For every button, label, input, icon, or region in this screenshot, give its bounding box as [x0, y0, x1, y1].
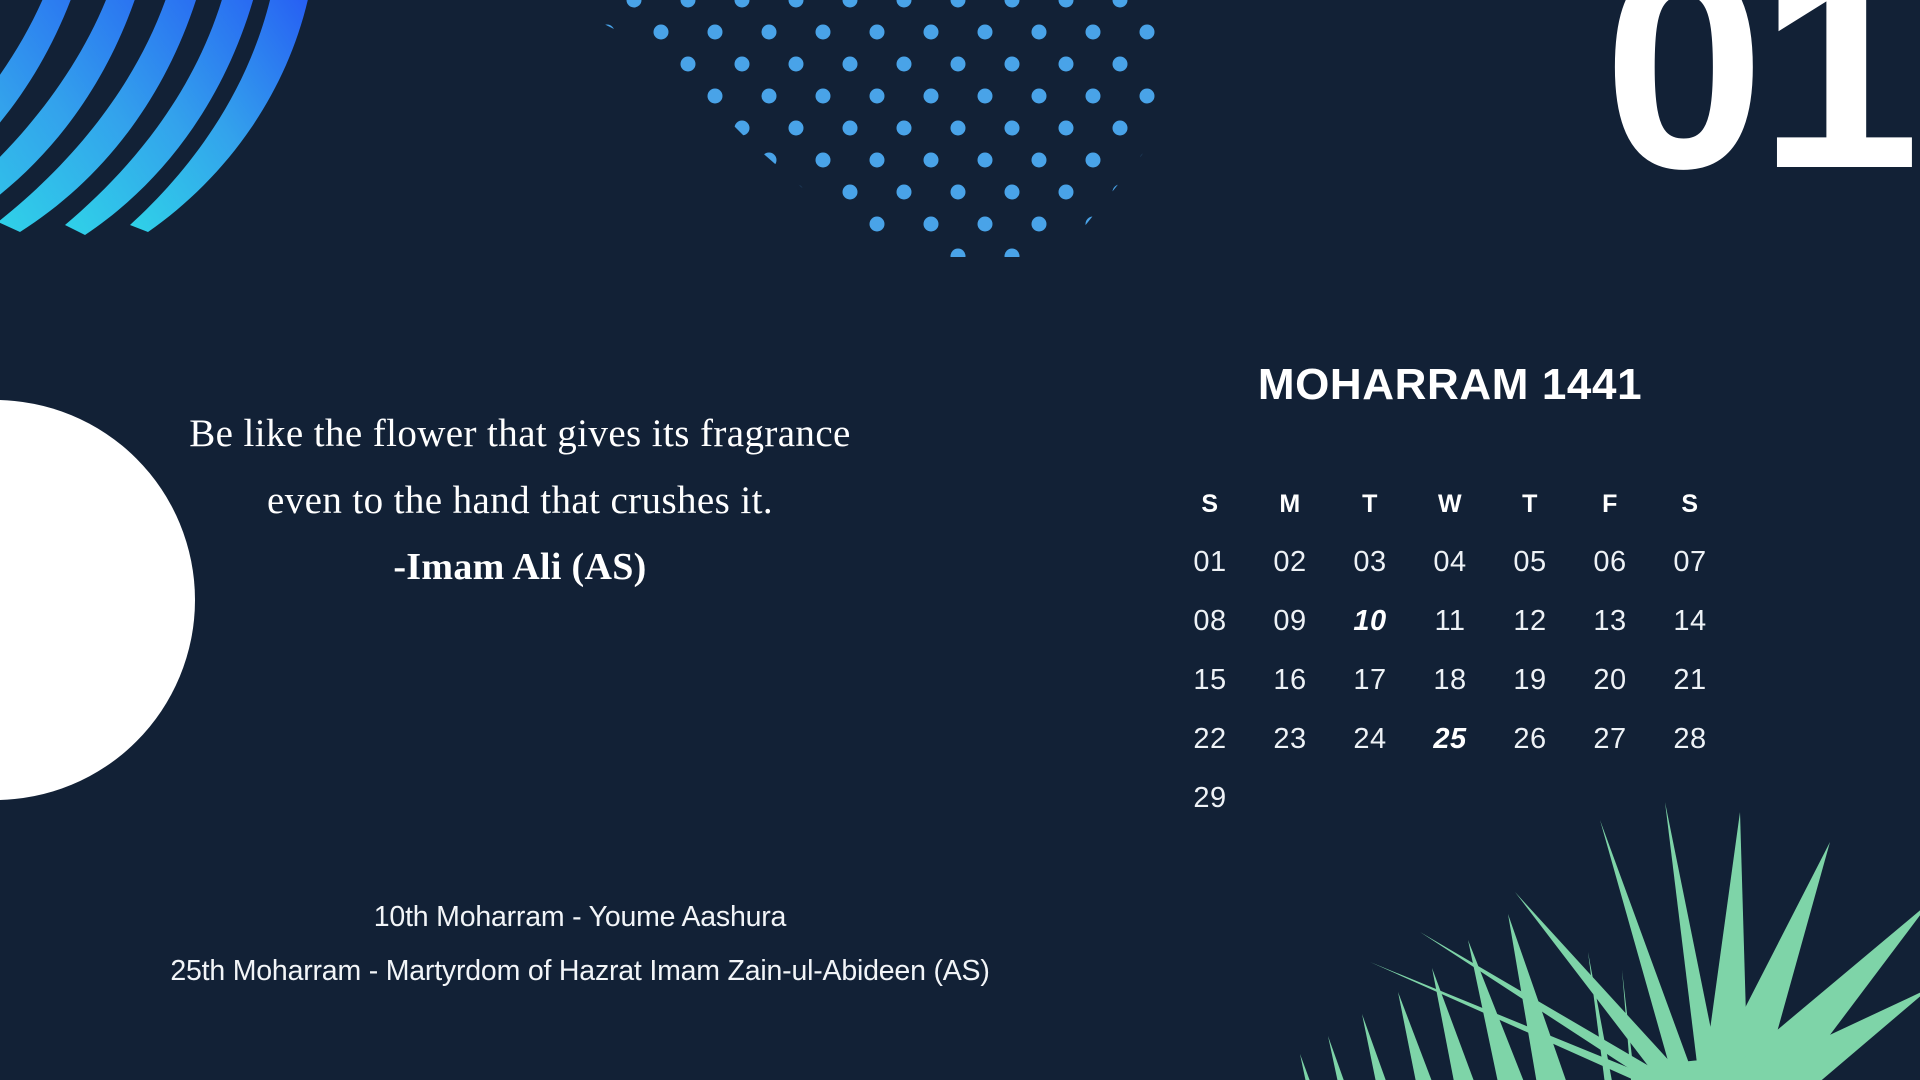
weekday-label: F — [1570, 490, 1650, 519]
calendar-day[interactable]: 26 — [1490, 723, 1570, 756]
calendar-day-event[interactable]: 25 — [1410, 723, 1490, 756]
calendar-day[interactable]: 03 — [1330, 546, 1410, 579]
calendar-day[interactable]: 14 — [1650, 605, 1730, 638]
weekday-label: S — [1170, 490, 1250, 519]
calendar-day[interactable]: 17 — [1330, 664, 1410, 697]
weekday-label: W — [1410, 490, 1490, 519]
calendar-day[interactable]: 13 — [1570, 605, 1650, 638]
calendar-page: 01 Be like the flower that gives its fra… — [0, 0, 1920, 1080]
calendar-day[interactable]: 11 — [1410, 605, 1490, 638]
calendar-day[interactable]: 02 — [1250, 546, 1330, 579]
calendar-day[interactable]: 21 — [1650, 664, 1730, 697]
calendar-day[interactable]: 08 — [1170, 605, 1250, 638]
calendar-day[interactable]: 04 — [1410, 546, 1490, 579]
weekday-label: S — [1650, 490, 1730, 519]
quote-block: Be like the flower that gives its fragra… — [120, 400, 920, 601]
calendar-day-empty — [1570, 782, 1650, 815]
calendar-day-empty — [1330, 782, 1410, 815]
quote-author: -Imam Ali (AS) — [120, 534, 920, 601]
event-line: 25th Moharram - Martyrdom of Hazrat Imam… — [80, 944, 1080, 998]
calendar-days-grid: 01 02 03 04 05 06 07 08 09 10 11 12 13 1… — [1170, 546, 1730, 815]
calendar-day-event[interactable]: 10 — [1330, 605, 1410, 638]
weekday-label: M — [1250, 490, 1330, 519]
calendar-day[interactable]: 15 — [1170, 664, 1250, 697]
blue-dot-triangle-decoration — [600, 0, 1160, 312]
month-number: 01 — [1603, 0, 1914, 212]
calendar-day[interactable]: 19 — [1490, 664, 1570, 697]
calendar-day[interactable]: 07 — [1650, 546, 1730, 579]
calendar-day[interactable]: 09 — [1250, 605, 1330, 638]
calendar-day-empty — [1490, 782, 1570, 815]
calendar-day[interactable]: 29 — [1170, 782, 1250, 815]
weekday-label: T — [1330, 490, 1410, 519]
event-line: 10th Moharram - Youme Aashura — [80, 890, 1080, 944]
calendar-day[interactable]: 23 — [1250, 723, 1330, 756]
calendar-weekday-header: S M T W T F S — [1170, 490, 1730, 519]
quote-line-1: Be like the flower that gives its fragra… — [120, 400, 920, 467]
calendar-day[interactable]: 28 — [1650, 723, 1730, 756]
calendar-day[interactable]: 20 — [1570, 664, 1650, 697]
calendar-day[interactable]: 22 — [1170, 723, 1250, 756]
calendar-day-empty — [1650, 782, 1730, 815]
calendar-day[interactable]: 16 — [1250, 664, 1330, 697]
blue-blade-stripes-decoration — [0, 0, 390, 290]
quote-line-2: even to the hand that crushes it. — [120, 467, 920, 534]
calendar-widget: MOHARRAM 1441 S M T W T F S 01 02 03 04 … — [1170, 360, 1730, 815]
calendar-day[interactable]: 24 — [1330, 723, 1410, 756]
calendar-day[interactable]: 01 — [1170, 546, 1250, 579]
calendar-day[interactable]: 12 — [1490, 605, 1570, 638]
calendar-day-empty — [1410, 782, 1490, 815]
calendar-day[interactable]: 05 — [1490, 546, 1570, 579]
green-palm-fronds-decoration — [1270, 792, 1920, 1080]
calendar-day[interactable]: 27 — [1570, 723, 1650, 756]
events-block: 10th Moharram - Youme Aashura 25th Mohar… — [80, 890, 1080, 998]
weekday-label: T — [1490, 490, 1570, 519]
calendar-day-empty — [1250, 782, 1330, 815]
calendar-day[interactable]: 06 — [1570, 546, 1650, 579]
calendar-title: MOHARRAM 1441 — [1170, 360, 1730, 410]
calendar-day[interactable]: 18 — [1410, 664, 1490, 697]
